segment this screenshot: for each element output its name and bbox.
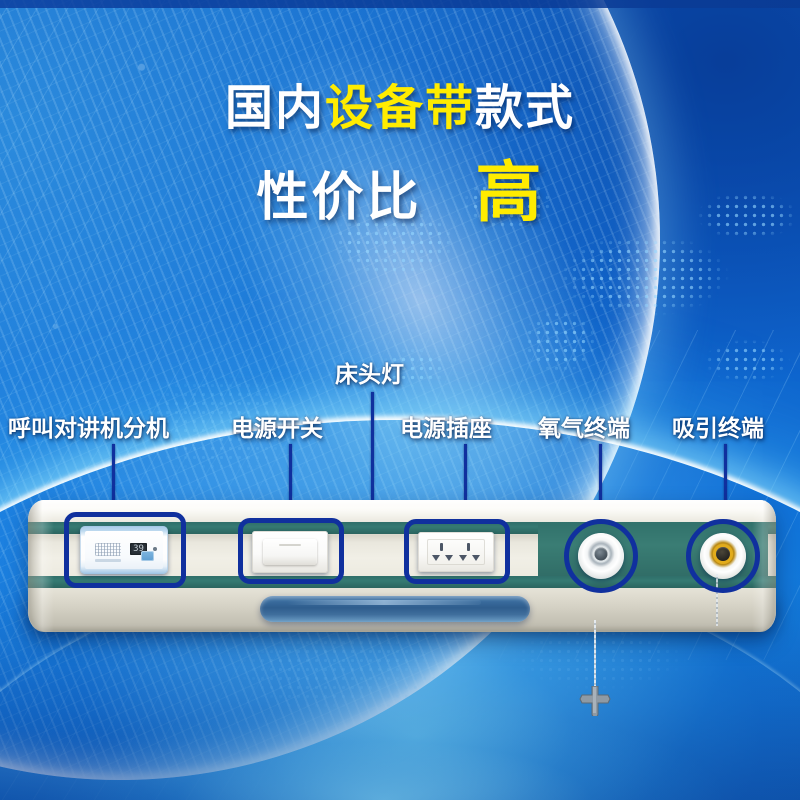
promo-banner: 国内设备带款式 性价比 高 呼叫对讲机分机 电源开关 床头灯 电源插座 氧气终端… — [0, 0, 800, 800]
callout-label-intercom: 呼叫对讲机分机 — [8, 418, 169, 441]
oxygen-port-icon — [595, 548, 608, 561]
panel-end-cap-left — [28, 500, 54, 632]
panel-stripe-bottom — [28, 576, 776, 588]
suction-terminal-device[interactable] — [700, 533, 746, 579]
socket-pin — [445, 555, 453, 561]
callout-label-bedside-lamp: 床头灯 — [335, 364, 404, 387]
socket-pin — [459, 555, 467, 561]
callout-label-suction: 吸引终端 — [672, 418, 764, 441]
pull-cord-secondary[interactable] — [716, 574, 718, 626]
power-socket-device[interactable] — [418, 532, 494, 572]
panel-top-sheen — [28, 500, 776, 522]
top-band — [0, 0, 800, 8]
socket-pin — [472, 555, 480, 561]
intercom-call-button[interactable] — [141, 551, 154, 561]
rocker-switch-icon[interactable] — [263, 539, 317, 565]
bedside-lamp-diffuser — [260, 596, 530, 622]
pull-cord[interactable] — [594, 620, 596, 692]
universal-outlet-icon — [427, 539, 485, 565]
callout-label-power-switch: 电源开关 — [231, 418, 323, 441]
panel-end-cap-right — [752, 500, 776, 632]
speaker-grille-icon — [95, 543, 121, 556]
callout-label-oxygen: 氧气终端 — [538, 418, 630, 441]
socket-pin — [467, 543, 470, 551]
oxygen-terminal-device[interactable] — [578, 533, 624, 579]
intercom-brand-mark — [95, 559, 121, 562]
intercom-faceplate: 39 — [85, 531, 163, 569]
status-led-icon — [153, 547, 157, 551]
dotted-world-map — [300, 130, 800, 460]
power-switch-device[interactable] — [252, 531, 328, 573]
suction-port-icon — [716, 547, 730, 561]
socket-pin — [432, 555, 440, 561]
callout-label-power-socket: 电源插座 — [400, 418, 492, 441]
socket-pin — [440, 543, 443, 551]
nurse-call-intercom-device[interactable]: 39 — [80, 526, 168, 574]
